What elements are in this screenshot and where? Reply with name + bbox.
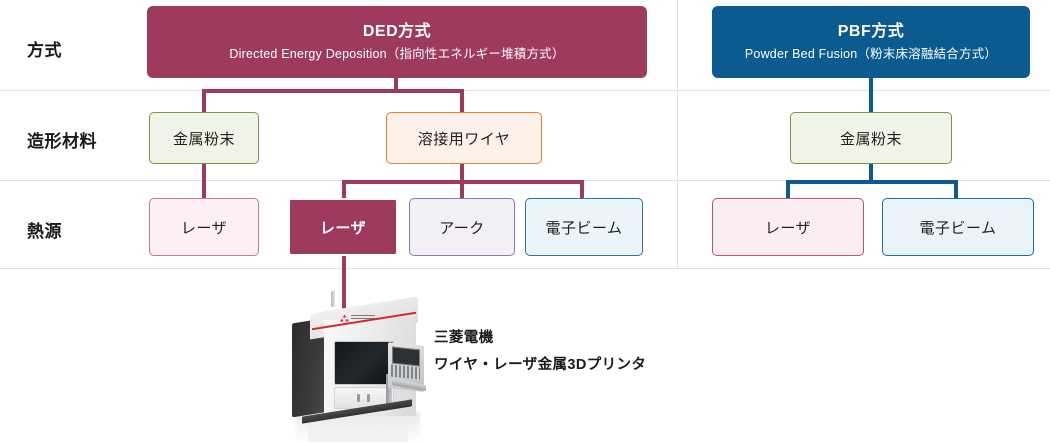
printer-brand-text [351, 315, 375, 321]
method-box-pbf-title: PBF方式 [838, 22, 905, 42]
method-box-pbf-subtitle: Powder Bed Fusion（粉末床溶融結合方式） [745, 46, 997, 62]
product-caption: 三菱電機 ワイヤ・レーザ金属3Dプリンタ [434, 325, 646, 379]
product-name: ワイヤ・レーザ金属3Dプリンタ [434, 352, 646, 379]
heat-source-box-ded-wire-ebeam[interactable]: 電子ビーム [525, 198, 643, 256]
connector-ded-powder-drop [202, 89, 206, 112]
process-classification-diagram: 方式 造形材料 熱源 DED方式 Directed Energy Deposit… [0, 0, 1050, 444]
heat-source-box-pbf-laser[interactable]: レーザ [712, 198, 864, 256]
method-box-ded[interactable]: DED方式 Directed Energy Deposition（指向性エネルギ… [147, 6, 647, 78]
printer-reflection [308, 416, 408, 442]
printer-exhaust-stack [331, 291, 335, 307]
row-label-method: 方式 [27, 36, 62, 61]
connector-ded-wire-drop [460, 89, 464, 112]
heat-source-box-ded-wire-ebeam-label: 電子ビーム [545, 217, 622, 238]
method-box-ded-title: DED方式 [363, 22, 431, 42]
product-company: 三菱電機 [434, 325, 646, 352]
material-box-pbf-powder[interactable]: 金属粉末 [790, 112, 952, 164]
connector-pbf-to-ebeam [954, 180, 958, 198]
connector-wire-stem [460, 164, 464, 180]
connector-wire-to-arc [460, 180, 464, 198]
material-box-ded-powder[interactable]: 金属粉末 [149, 112, 259, 164]
printer-door-handle-left [357, 394, 360, 402]
method-box-pbf[interactable]: PBF方式 Powder Bed Fusion（粉末床溶融結合方式） [712, 6, 1030, 78]
connector-pbf-powder-stem [869, 164, 873, 180]
connector-pbf-to-laser [786, 180, 790, 198]
method-box-ded-subtitle: Directed Energy Deposition（指向性エネルギー堆積方式） [229, 46, 564, 62]
heat-source-box-ded-wire-arc[interactable]: アーク [409, 198, 515, 256]
section-divider-vertical [677, 0, 678, 268]
connector-wire-to-laser [342, 180, 346, 198]
material-box-ded-wire[interactable]: 溶接用ワイヤ [386, 112, 542, 164]
row-label-heat-source: 熱源 [27, 217, 62, 242]
heat-source-box-ded-wire-arc-label: アーク [439, 217, 485, 238]
heat-source-box-ded-wire-laser-label: レーザ [320, 217, 366, 238]
heat-source-box-ded-wire-laser[interactable]: レーザ [288, 198, 398, 256]
printer-view-window [334, 341, 394, 385]
material-box-pbf-powder-label: 金属粉末 [840, 128, 902, 149]
material-box-ded-powder-label: 金属粉末 [173, 128, 235, 149]
heat-source-box-pbf-ebeam-label: 電子ビーム [919, 217, 996, 238]
heat-source-box-pbf-ebeam[interactable]: 電子ビーム [882, 198, 1034, 256]
connector-wire-to-ebeam [580, 180, 584, 198]
printer-door-handle-right [367, 394, 370, 402]
metal-3d-printer-image [288, 296, 434, 444]
connector-pbf-stem [869, 78, 873, 112]
heat-source-box-pbf-laser-label: レーザ [765, 217, 811, 238]
row-divider-bottom [0, 268, 1050, 269]
connector-ded-bar [202, 89, 464, 93]
heat-source-box-ded-powder-laser-label: レーザ [181, 217, 227, 238]
heat-source-box-ded-powder-laser[interactable]: レーザ [149, 198, 259, 256]
row-label-material: 造形材料 [27, 127, 97, 152]
mitsubishi-logo-icon [340, 314, 349, 322]
connector-powder-to-laser [202, 164, 206, 198]
row-divider-top [0, 90, 1050, 91]
printer-control-screen [392, 347, 420, 367]
connector-pbf-bar [786, 180, 958, 184]
material-box-ded-wire-label: 溶接用ワイヤ [418, 128, 511, 149]
